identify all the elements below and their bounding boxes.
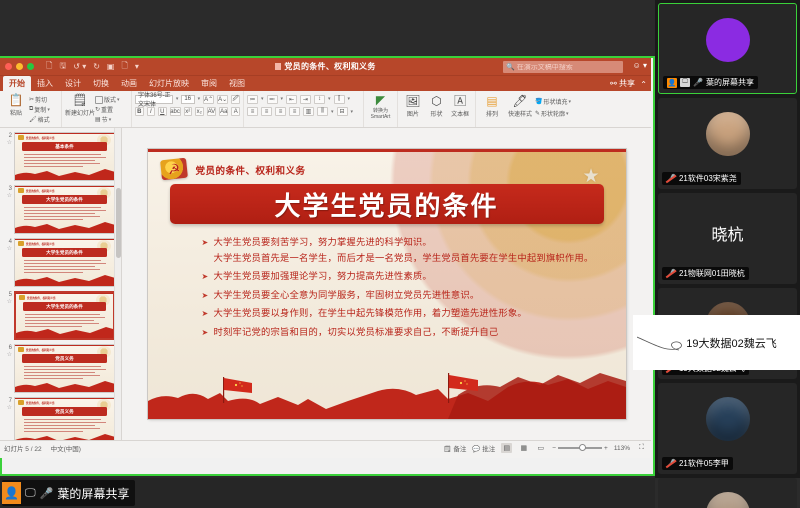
slide-title-banner: 大学生党员的条件 <box>170 184 604 224</box>
quick-styles-label: 快速样式 <box>508 109 532 118</box>
shapes-label: 形状 <box>431 109 443 118</box>
layout-button[interactable]: 版式▾ <box>95 95 120 104</box>
chevron-down-icon[interactable]: ▾ <box>351 109 354 115</box>
picture-label: 图片 <box>407 109 419 118</box>
normal-view-button[interactable]: ▤ <box>501 443 512 453</box>
arrange-label: 排列 <box>486 109 498 118</box>
align-left-button[interactable]: ≡ <box>247 107 258 116</box>
tab-home[interactable]: 开始 <box>3 76 31 91</box>
current-slide[interactable]: ★ 党员的条件、权利和义务 大学生党员的条件 ➤大学生党员要刻苦学习，努力掌握先… <box>148 149 626 419</box>
thumbnail-title: 党员义务 <box>22 354 107 363</box>
chevron-down-icon: ▾ <box>569 99 572 105</box>
bullet-text: 大学生党员要加强理论学习，努力提高先进性素质。 <box>214 271 432 282</box>
slide-thumbnail[interactable]: 党员的条件、权利和义务大学生党员的条件 <box>14 238 115 287</box>
account-icon[interactable]: ☺ ▾ <box>633 61 647 70</box>
presentation-file-icon <box>275 63 281 70</box>
powerpoint-window: 🗋 🖫 ↺ ▾ ↻ ▣ 🗋 ▾ 党员的条件、权利和义务 🔍 ☺ ▾ 开始 插入 … <box>0 58 651 458</box>
zoom-in-button[interactable]: + <box>604 445 608 452</box>
microphone-muted-icon: 🎤 <box>666 459 676 468</box>
close-icon[interactable] <box>5 63 12 70</box>
thumbnail-scrollbar[interactable] <box>114 128 121 440</box>
tab-review[interactable]: 审阅 <box>195 76 223 91</box>
animation-star-icon: ☆ <box>2 139 12 146</box>
window-controls[interactable] <box>0 63 34 70</box>
thumbnail-emblem-icon <box>18 135 24 140</box>
thumbnail-title: 基本条件 <box>22 142 107 151</box>
align-text-button[interactable]: ⫼ <box>317 107 328 116</box>
participant-display-initials: 晓杭 <box>658 221 797 245</box>
chevron-down-icon[interactable]: ▾ <box>328 96 331 102</box>
clipboard-icon: 📋 <box>9 94 24 107</box>
zoom-out-button[interactable]: − <box>552 445 556 452</box>
microphone-muted-icon: 🎤 <box>666 269 676 278</box>
tab-slideshow[interactable]: 幻灯片放映 <box>143 76 195 91</box>
ribbon-group-clipboard: 📋 粘贴 ✂剪切 ⧉复制▾ 🖌格式 <box>0 91 62 127</box>
slide-bullet: ➤时刻牢记党的宗旨和目的，切实以党员标准要求自己，不断提升自己 <box>202 327 608 338</box>
slide-bullet: ➤大学生党员要加强理论学习，努力提高先进性素质。 <box>202 271 608 282</box>
bullet-text: 大学生党员要以身作则，在学生中起先锋模范作用，着力塑造先进性形象。 <box>214 308 527 319</box>
pointer-scribble-icon <box>637 333 697 355</box>
slide-thumbnail[interactable]: 党员的条件、权利和义务党员义务 <box>14 344 115 393</box>
share-button[interactable]: ⚯ 共享 <box>610 78 635 89</box>
slide-bullet: ➤大学生党员要刻苦学习，努力掌握先进的科学知识。 <box>202 237 608 248</box>
thumbnail-number: 6☆ <box>2 344 12 358</box>
share-button-label: 共享 <box>619 79 635 88</box>
thumbnail-title: 大学生党员的条件 <box>23 302 106 311</box>
align-center-button[interactable]: ≡ <box>261 107 272 116</box>
slide-thumbnail-panel[interactable]: 2☆党员的条件、权利和义务基本条件3☆党员的条件、权利和义务大学生党员的条件4☆… <box>0 128 122 440</box>
insert-textbox-button[interactable]: 🄰 文本框 <box>448 94 472 118</box>
shape-outline-button[interactable]: ✎形状轮廓▾ <box>535 109 571 118</box>
reading-view-button[interactable]: ▭ <box>535 443 546 453</box>
thumbnail-row[interactable]: 5☆党员的条件、权利和义务大学生党员的条件 <box>0 289 121 342</box>
chevron-down-icon[interactable]: ▾ <box>331 109 334 115</box>
shapes-icon: ⬡ <box>431 95 441 108</box>
outline-pen-icon: ✎ <box>535 110 540 117</box>
cut-label: 剪切 <box>35 95 47 104</box>
animation-star-icon: ☆ <box>2 245 12 252</box>
bullet-arrow-icon: ➤ <box>202 290 209 301</box>
microphone-icon: 🎤 <box>693 78 703 87</box>
chevron-down-icon: ▾ <box>566 111 569 117</box>
layout-label: 版式 <box>104 95 116 104</box>
underline-button[interactable]: U <box>158 107 167 116</box>
thumbnail-title: 党员义务 <box>22 407 107 416</box>
language-indicator[interactable]: 中文(中国) <box>51 443 81 453</box>
thumbnail-body <box>24 419 108 432</box>
slide-thumbnail[interactable]: 党员的条件、权利和义务党员义务 <box>14 397 115 440</box>
slide-counter: 幻灯片 5 / 22 <box>4 443 42 453</box>
bullet-text: 大学生党员首先是一名学生，而后才是一名党员，学生党员首先要在学生中起到旗帜作用。 <box>214 253 594 264</box>
search-box[interactable]: 🔍 <box>503 61 623 73</box>
zoom-knob[interactable] <box>579 444 586 451</box>
chevron-down-icon: ▾ <box>109 117 112 123</box>
bullet-arrow-icon: ➤ <box>202 327 209 338</box>
format-painter-label: 格式 <box>38 115 50 124</box>
thumbnail-kicker: 党员的条件、权利和义务 <box>26 189 55 193</box>
thumbnail-emblem-icon <box>18 347 24 352</box>
animation-star-icon: ☆ <box>2 351 12 358</box>
microphone-icon[interactable]: 🎤 <box>40 487 54 500</box>
ribbon-group-smartart: ◤ 转换为 SmartArt <box>364 91 398 127</box>
zoom-level: 113% <box>614 445 630 452</box>
strikethrough-button[interactable]: abc <box>170 107 181 116</box>
thumbnail-body <box>24 366 108 379</box>
arrange-icon: ▤ <box>486 95 497 108</box>
taskbar-label: 葉的屏幕共享 <box>57 485 129 502</box>
numbering-button[interactable]: ≕ <box>267 95 278 104</box>
screen-share-icon[interactable]: 🖵 <box>25 487 36 500</box>
ribbon-group-font: 字体36号-正文宋体 ▾ 16 ▾ A⌃ A⌄ 🖉 B I U abc x² x… <box>132 91 244 127</box>
section-icon: ▤ <box>95 116 101 123</box>
insert-picture-button[interactable]: 🖼 图片 <box>401 94 425 118</box>
reset-label: 重置 <box>101 105 113 114</box>
participant-tile[interactable]: 🎤21软件05李甲 <box>658 383 797 474</box>
quick-styles-icon: 🖊 <box>512 95 527 108</box>
editor-body: 2☆党员的条件、权利和义务基本条件3☆党员的条件、权利和义务大学生党员的条件4☆… <box>0 128 651 440</box>
bullets-button[interactable]: ≔ <box>247 95 258 104</box>
participant-name-badge: 🎤21软件03宋紫尧 <box>662 172 741 185</box>
paste-button[interactable]: 📋 粘贴 <box>3 93 29 117</box>
text-direction-button[interactable]: ⫿ <box>334 95 345 104</box>
bold-button[interactable]: B <box>135 107 144 116</box>
character-spacing-button[interactable]: AV <box>207 107 217 116</box>
ribbon-tab-strip[interactable]: 开始 插入 设计 切换 动画 幻灯片放映 审阅 视图 ⚯ 共享 ⌃ <box>0 76 651 91</box>
participant-tile[interactable]: 晓杭🎤21物联网01田晓杭 <box>658 193 797 284</box>
maximize-icon[interactable] <box>27 63 34 70</box>
change-case-button[interactable]: Aa <box>219 107 228 116</box>
animation-star-icon: ☆ <box>2 404 12 411</box>
convert-to-smartart-label: 转换为 SmartArt <box>365 108 397 120</box>
search-input[interactable] <box>517 64 617 71</box>
host-icon: 👤 <box>667 78 677 88</box>
new-slide-button[interactable]: 🗒 新建幻灯片 <box>65 93 95 117</box>
copy-label: 复制 <box>34 105 46 114</box>
bullet-arrow-icon: ➤ <box>202 271 209 282</box>
arrange-button[interactable]: ▤ 排列 <box>479 94 505 118</box>
slide-canvas[interactable]: ★ 党员的条件、权利和义务 大学生党员的条件 ➤大学生党员要刻苦学习，努力掌握先… <box>122 128 651 440</box>
comments-label: 批注 <box>482 446 495 453</box>
thumbnail-emblem-icon <box>19 295 25 300</box>
slide-title: 大学生党员的条件 <box>274 186 498 223</box>
scissors-icon: ✂ <box>29 96 34 103</box>
copy-button[interactable]: ⧉复制▾ <box>29 105 50 114</box>
notes-button[interactable]: 🗒 备注 <box>443 443 466 453</box>
participant-name: 21软件03宋紫尧 <box>679 173 737 184</box>
quick-access-toolbar[interactable]: 🗋 🖫 ↺ ▾ ↻ ▣ 🗋 ▾ <box>46 60 139 74</box>
start-presentation-icon[interactable]: ▣ <box>107 62 115 71</box>
taskbar[interactable]: 👤 🖵 🎤 葉的屏幕共享 <box>0 478 655 508</box>
fill-bucket-icon: 🪣 <box>535 98 542 105</box>
textbox-label: 文本框 <box>451 109 469 118</box>
tab-animations[interactable]: 动画 <box>115 76 143 91</box>
thumbnail-scrollbar-thumb[interactable] <box>116 188 121 258</box>
cut-button[interactable]: ✂剪切 <box>29 95 50 104</box>
chevron-down-icon: ▾ <box>47 107 50 113</box>
comments-button[interactable]: 💬 批注 <box>472 443 495 453</box>
thumbnail-row[interactable]: 2☆党员的条件、权利和义务基本条件 <box>0 130 121 183</box>
undo-icon[interactable]: ↺ ▾ <box>73 62 86 71</box>
quick-styles-button[interactable]: 🖊 快速样式 <box>505 94 535 118</box>
thumbnail-body <box>24 260 108 273</box>
avatar <box>706 18 750 62</box>
chevron-down-icon[interactable]: ▾ <box>261 96 264 102</box>
ribbon-group-drawing: ▤ 排列 🖊 快速样式 🪣形状填充▾ ✎形状轮廓▾ <box>476 91 596 127</box>
taskbar-share-item[interactable]: 👤 🖵 🎤 葉的屏幕共享 <box>2 480 135 506</box>
copy-icon: ⧉ <box>29 106 33 113</box>
thumbnail-number: 5☆ <box>2 291 12 305</box>
new-slide-label: 新建幻灯片 <box>65 108 95 117</box>
shape-fill-label: 形状填充 <box>543 97 567 106</box>
superscript-button[interactable]: x² <box>184 107 193 116</box>
slide-thumbnail[interactable]: 党员的条件、权利和义务基本条件 <box>14 132 115 181</box>
host-person-icon: 👤 <box>2 482 21 504</box>
thumbnail-kicker: 党员的条件、权利和义务 <box>27 296 56 300</box>
increase-font-size-button[interactable]: A⌃ <box>203 95 214 104</box>
reset-button[interactable]: ↻重置 <box>95 105 120 114</box>
decrease-indent-button[interactable]: ⇤ <box>286 95 297 104</box>
paintbrush-icon: 🖌 <box>29 116 37 123</box>
search-icon: 🔍 <box>506 63 515 71</box>
thumbnail-number: 2☆ <box>2 132 12 146</box>
bullet-text: 大学生党员要全心全意为同学服务，牢固树立党员先进性意识。 <box>214 290 480 301</box>
new-file-icon[interactable]: 🗋 <box>46 60 52 74</box>
picture-icon: 🖼 <box>405 95 420 108</box>
customize-qat-icon[interactable]: ▾ <box>135 62 139 71</box>
thumbnail-number: 4☆ <box>2 238 12 252</box>
avatar <box>706 492 750 508</box>
annotation-callout: 19大数据02魏云飞 <box>633 315 800 370</box>
zoom-track[interactable] <box>558 447 602 449</box>
notes-label: 备注 <box>453 446 466 453</box>
slide-bullet-list[interactable]: ➤大学生党员要刻苦学习，努力掌握先进的科学知识。➤大学生党员首先是一名学生，而后… <box>202 237 608 345</box>
thumbnail-body <box>24 154 108 167</box>
chevron-down-icon[interactable]: ▾ <box>348 96 351 102</box>
animation-star-icon: ☆ <box>2 192 12 199</box>
thumbnail-kicker: 党员的条件、权利和义务 <box>26 242 55 246</box>
thumbnail-number: 7☆ <box>2 397 12 411</box>
thumbnail-kicker: 党员的条件、权利和义务 <box>26 348 55 352</box>
participant-tile[interactable]: 🎤21软件03宋紫尧 <box>658 98 797 189</box>
smartart-icon: ◤ <box>376 94 385 107</box>
tab-insert[interactable]: 插入 <box>31 76 59 91</box>
ribbon[interactable]: 📋 粘贴 ✂剪切 ⧉复制▾ 🖌格式 🗒 新建幻灯片 版式▾ ↻重置 ▤节▾ <box>0 91 651 128</box>
bullet-arrow-icon: ➤ <box>202 237 209 248</box>
decrease-font-size-button[interactable]: A⌄ <box>217 95 228 104</box>
chevron-down-icon: ▾ <box>117 97 120 103</box>
bullet-text: 时刻牢记党的宗旨和目的，切实以党员标准要求自己，不断提升自己 <box>214 327 499 338</box>
layout-icon <box>95 96 103 104</box>
font-name-field[interactable]: 字体36号-正文宋体 <box>135 95 173 104</box>
microphone-muted-icon: 🎤 <box>666 174 676 183</box>
bullet-text: 大学生党员要刻苦学习，努力掌握先进的科学知识。 <box>214 237 432 248</box>
minimize-icon[interactable] <box>16 63 23 70</box>
slide-thumbnail[interactable]: 党员的条件、权利和义务大学生党员的条件 <box>14 185 115 234</box>
slide-footer-artwork <box>148 371 626 419</box>
slide-top-accent <box>148 149 626 152</box>
thumbnail-row[interactable]: 6☆党员的条件、权利和义务党员义务 <box>0 342 121 395</box>
tab-design[interactable]: 设计 <box>59 76 87 91</box>
fit-to-window-button[interactable]: ⛶ <box>636 443 647 453</box>
thumbnail-emblem-icon <box>18 241 24 246</box>
powerpoint-status-bar[interactable]: 幻灯片 5 / 22 中文(中国) 🗒 备注 💬 批注 ▤ ▦ ▭ − + 11… <box>0 440 651 455</box>
format-painter-button[interactable]: 🖌格式 <box>29 115 50 124</box>
thumbnail-body <box>24 207 108 220</box>
ribbon-group-paragraph: ≔ ▾ ≕ ▾ ⇤ ⇥ ↕ ▾ ⫿ ▾ ≡ ≡ ≡ ≡ ▥ ⫼ <box>244 91 364 127</box>
participant-name: 21软件05李甲 <box>679 458 729 469</box>
slide-bullet: ➤大学生党员要以身作则，在学生中起先锋模范作用，着力塑造先进性形象。 <box>202 308 608 319</box>
textbox-icon: 🄰 <box>454 95 466 108</box>
columns-button[interactable]: ▥ <box>303 107 314 116</box>
redo-icon[interactable]: ↻ <box>93 62 100 71</box>
avatar <box>706 112 750 156</box>
subscript-button[interactable]: x₂ <box>195 107 204 116</box>
participant-name: 葉的屏幕共享 <box>706 77 754 88</box>
desktop-background: 🗋 🖫 ↺ ▾ ↻ ▣ 🗋 ▾ 党员的条件、权利和义务 🔍 ☺ ▾ 开始 插入 … <box>0 0 800 508</box>
participant-tile[interactable]: 👤🖵🎤葉的屏幕共享 <box>658 3 797 94</box>
new-slide-icon: 🗒 <box>72 94 87 107</box>
ribbon-group-insert: 🖼 图片 ⬡ 形状 🄰 文本框 <box>398 91 476 127</box>
slide-sorter-button[interactable]: ▦ <box>518 443 529 453</box>
ribbon-group-slides: 🗒 新建幻灯片 版式▾ ↻重置 ▤节▾ <box>62 91 132 127</box>
save-icon[interactable]: 🖫 <box>59 60 66 74</box>
slide-bullet: ➤大学生党员首先是一名学生，而后才是一名党员，学生党员首先要在学生中起到旗帜作用… <box>202 253 608 264</box>
thumbnail-row[interactable]: 7☆党员的条件、权利和义务党员义务 <box>0 395 121 440</box>
new-slide-icon[interactable]: 🗋 <box>121 60 127 74</box>
participant-name-badge: 🎤21软件05李甲 <box>662 457 733 470</box>
participant-name-badge: 🎤21物联网01田晓杭 <box>662 267 749 280</box>
tab-transitions[interactable]: 切换 <box>87 76 115 91</box>
participant-video-strip[interactable]: 👤🖵🎤葉的屏幕共享🎤21软件03宋紫尧晓杭🎤21物联网01田晓杭🎤19大数据02… <box>655 0 800 478</box>
tab-view[interactable]: 视图 <box>223 76 251 91</box>
thumbnail-number: 3☆ <box>2 185 12 199</box>
chevron-down-icon[interactable]: ▾ <box>176 96 179 102</box>
insert-shape-button[interactable]: ⬡ 形状 <box>425 94 449 118</box>
thumbnail-row[interactable]: 4☆党员的条件、权利和义务大学生党员的条件 <box>0 236 121 289</box>
font-size-field[interactable]: 16 <box>181 95 194 104</box>
slide-kicker: 党员的条件、权利和义务 <box>196 163 306 177</box>
slide-bullet: ➤大学生党员要全心全意为同学服务，牢固树立党员先进性意识。 <box>202 290 608 301</box>
chevron-down-icon[interactable]: ▾ <box>281 96 284 102</box>
line-spacing-button[interactable]: ↕ <box>314 95 325 104</box>
shape-outline-label: 形状轮廓 <box>541 109 565 118</box>
document-title-text: 党员的条件、权利和义务 <box>284 62 375 71</box>
increase-indent-button[interactable]: ⇥ <box>300 95 311 104</box>
callout-text: 19大数据02魏云飞 <box>686 335 776 351</box>
collapse-ribbon-icon[interactable]: ⌃ <box>640 80 647 89</box>
align-right-button[interactable]: ≡ <box>275 107 286 116</box>
powerpoint-title-bar: 🗋 🖫 ↺ ▾ ↻ ▣ 🗋 ▾ 党员的条件、权利和义务 🔍 ☺ ▾ <box>0 58 651 76</box>
clear-formatting-button[interactable]: 🖉 <box>231 95 240 104</box>
thumbnail-row[interactable]: 3☆党员的条件、权利和义务大学生党员的条件 <box>0 183 121 236</box>
font-color-button[interactable]: A <box>231 107 240 116</box>
bullet-arrow-icon: ➤ <box>202 308 209 319</box>
participant-tile[interactable]: 🎤21物联03李俊丞 <box>658 478 797 508</box>
section-button[interactable]: ▤节▾ <box>95 115 120 124</box>
zoom-slider[interactable]: − + <box>552 445 608 452</box>
italic-button[interactable]: I <box>147 107 156 116</box>
paste-label: 粘贴 <box>10 108 22 117</box>
party-emblem-icon <box>160 158 188 181</box>
participant-name-badge: 👤🖵🎤葉的屏幕共享 <box>663 76 758 89</box>
justify-button[interactable]: ≡ <box>289 107 300 116</box>
reset-icon: ↻ <box>95 106 100 113</box>
thumbnail-title: 大学生党员的条件 <box>22 248 107 257</box>
chevron-down-icon[interactable]: ▾ <box>198 96 201 102</box>
thumbnail-emblem-icon <box>18 188 24 193</box>
section-label: 节 <box>102 115 108 124</box>
thumbnail-emblem-icon <box>18 400 24 405</box>
animation-star-icon: ☆ <box>2 298 12 305</box>
thumbnail-kicker: 党员的条件、权利和义务 <box>26 401 55 405</box>
screen-share-icon: 🖵 <box>680 78 690 87</box>
thumbnail-title: 大学生党员的条件 <box>22 195 107 204</box>
avatar <box>706 397 750 441</box>
shape-fill-button[interactable]: 🪣形状填充▾ <box>535 97 571 106</box>
text-align-vertical-button[interactable]: ⊟ <box>337 107 348 116</box>
slide-thumbnail[interactable]: 党员的条件、权利和义务大学生党员的条件 <box>14 291 115 340</box>
thumbnail-kicker: 党员的条件、权利和义务 <box>26 136 55 140</box>
convert-to-smartart-button[interactable]: ◤ 转换为 SmartArt <box>365 93 397 120</box>
participant-name: 21物联网01田晓杭 <box>679 268 745 279</box>
